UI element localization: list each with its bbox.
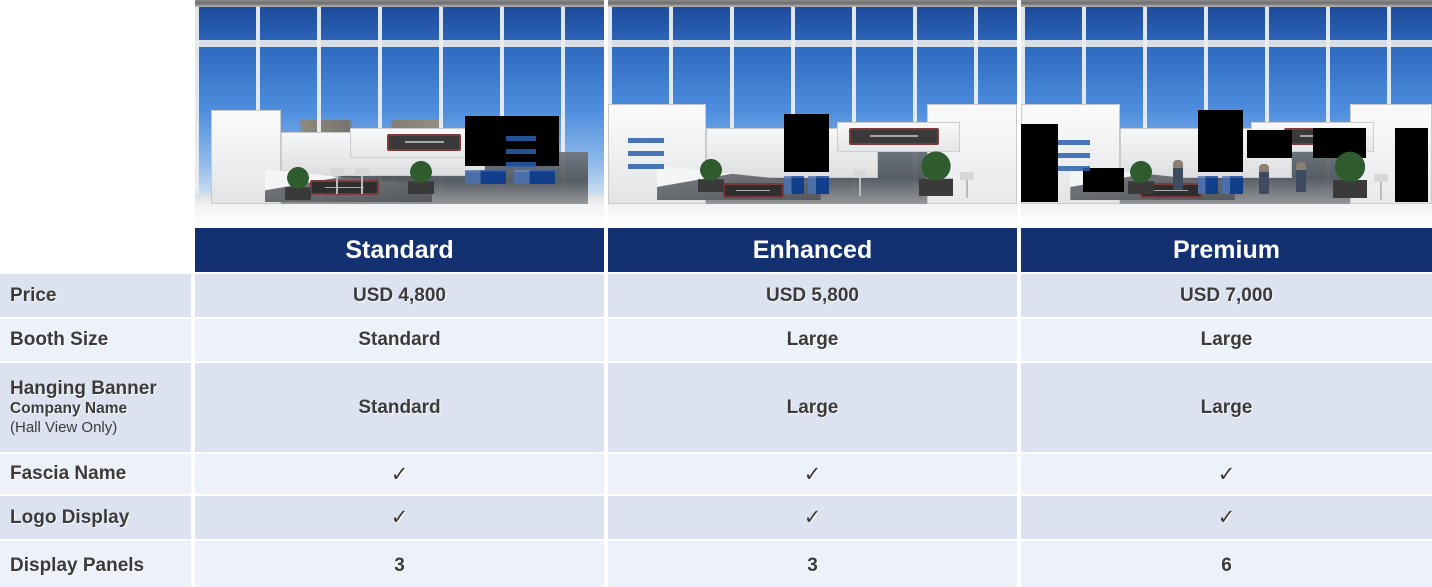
- table-row: Logo Display ✓ ✓ ✓: [0, 496, 1432, 539]
- table-row: Display Panels 3 3 6: [0, 541, 1432, 587]
- cell-display-panels-premium: 6: [1021, 541, 1432, 587]
- booth-image-premium: [1021, 0, 1432, 228]
- table-row: Booth Size Standard Large Large: [0, 319, 1432, 361]
- potted-plant: [285, 166, 311, 200]
- display-panel: [1021, 124, 1058, 202]
- potted-plant: [408, 160, 434, 194]
- row-label-text: Display Panels: [10, 555, 191, 577]
- row-sublabel-text: Company Name: [10, 399, 191, 418]
- cell-hanging-banner-enhanced: Large: [608, 363, 1017, 452]
- graphic-poster-wall: [1058, 140, 1090, 176]
- bar-stool: [853, 170, 867, 196]
- cell-hanging-banner-premium: Large: [1021, 363, 1432, 452]
- display-panel: [1222, 176, 1243, 194]
- checkmark-icon: ✓: [195, 496, 604, 539]
- booth-image-standard: [195, 0, 604, 228]
- hanging-banner-sign: [849, 128, 939, 145]
- row-label-logo-display: Logo Display: [0, 496, 191, 539]
- hall-ceiling-beam: [1021, 0, 1432, 7]
- table-row: Fascia Name ✓ ✓ ✓: [0, 454, 1432, 494]
- header-package-premium[interactable]: Premium: [1021, 228, 1432, 272]
- cell-display-panels-enhanced: 3: [608, 541, 1017, 587]
- display-panel: [465, 170, 506, 184]
- header-package-enhanced[interactable]: Enhanced: [608, 228, 1017, 272]
- package-comparison-table: Standard Enhanced Premium Price USD 4,80…: [0, 228, 1432, 587]
- row-label-text: Logo Display: [10, 507, 191, 529]
- package-comparison-table-page: Standard Enhanced Premium Price USD 4,80…: [0, 0, 1432, 587]
- potted-plant: [698, 158, 724, 192]
- checkmark-icon: ✓: [1021, 496, 1432, 539]
- hall-ceiling-beam: [608, 0, 1017, 7]
- row-label-price: Price: [0, 274, 191, 317]
- visitor-figure: [1173, 160, 1183, 190]
- graphic-poster-wall: [506, 136, 536, 168]
- row-label-hanging-banner: Hanging Banner Company Name (Hall View O…: [0, 363, 191, 452]
- cell-display-panels-standard: 3: [195, 541, 604, 587]
- row-sublabel2-text: (Hall View Only): [10, 419, 191, 438]
- checkmark-icon: ✓: [608, 454, 1017, 494]
- display-panel: [1198, 176, 1219, 194]
- cell-price-enhanced: USD 5,800: [608, 274, 1017, 317]
- cell-booth-size-premium: Large: [1021, 319, 1432, 361]
- fascia-name-sign: [723, 183, 784, 198]
- checkmark-icon: ✓: [195, 454, 604, 494]
- row-label-display-panels: Display Panels: [0, 541, 191, 587]
- display-panel: [784, 114, 829, 172]
- checkmark-icon: ✓: [1021, 454, 1432, 494]
- row-label-booth-size: Booth Size: [0, 319, 191, 361]
- graphic-poster-wall: [628, 138, 664, 174]
- table-row: Hanging Banner Company Name (Hall View O…: [0, 363, 1432, 452]
- cell-price-standard: USD 4,800: [195, 274, 604, 317]
- potted-plant: [1333, 150, 1367, 198]
- header-package-standard[interactable]: Standard: [195, 228, 604, 272]
- checkmark-icon: ✓: [608, 496, 1017, 539]
- bar-stool: [960, 172, 974, 198]
- row-label-fascia-name: Fascia Name: [0, 454, 191, 494]
- display-panel: [1395, 128, 1428, 202]
- table-header-row: Standard Enhanced Premium: [0, 228, 1432, 272]
- booth-image-enhanced: [608, 0, 1017, 228]
- row-label-text: Price: [10, 285, 191, 307]
- bar-stool: [330, 168, 344, 194]
- display-panel: [1198, 110, 1243, 172]
- row-label-text: Hanging Banner: [10, 378, 191, 400]
- header-corner-cell: [0, 228, 191, 272]
- cell-booth-size-enhanced: Large: [608, 319, 1017, 361]
- cell-hanging-banner-standard: Standard: [195, 363, 604, 452]
- display-panel: [808, 176, 828, 194]
- bar-stool: [355, 168, 369, 194]
- visitor-figure: [1296, 162, 1306, 192]
- visitor-figure: [1259, 164, 1269, 194]
- hall-ceiling-beam: [195, 0, 604, 7]
- cell-price-premium: USD 7,000: [1021, 274, 1432, 317]
- fascia-name-sign: [310, 180, 380, 195]
- booth-image-strip: [195, 0, 1432, 228]
- row-label-text: Fascia Name: [10, 463, 191, 485]
- hanging-banner-sign: [387, 134, 461, 151]
- row-label-text: Booth Size: [10, 329, 191, 351]
- potted-plant: [1128, 160, 1154, 194]
- display-panel: [514, 170, 555, 184]
- potted-plant: [919, 150, 953, 196]
- cell-booth-size-standard: Standard: [195, 319, 604, 361]
- bar-stool: [1374, 174, 1388, 200]
- display-panel: [1247, 130, 1292, 158]
- display-panel: [784, 176, 804, 194]
- table-row: Price USD 4,800 USD 5,800 USD 7,000: [0, 274, 1432, 317]
